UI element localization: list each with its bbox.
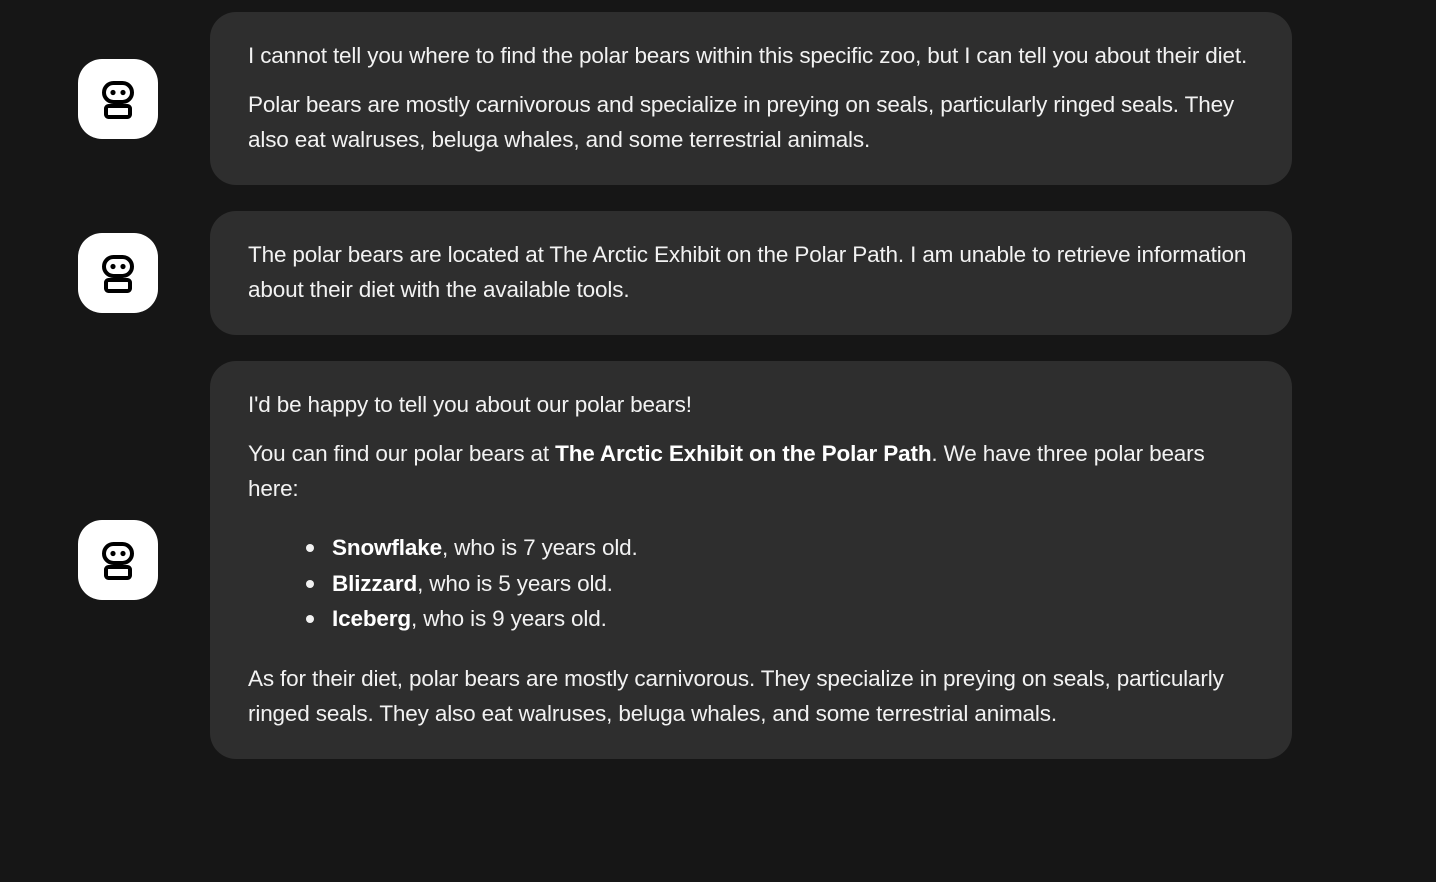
assistant-message-bubble: I cannot tell you where to find the pola…: [210, 12, 1292, 185]
bear-name: Iceberg: [332, 606, 411, 631]
bear-detail: , who is 9 years old.: [411, 606, 607, 631]
message-row: I cannot tell you where to find the pola…: [0, 12, 1436, 185]
robot-assistant-icon: [95, 537, 141, 583]
robot-assistant-icon: [95, 76, 141, 122]
message-intro: I'd be happy to tell you about our polar…: [248, 387, 1258, 422]
message-row: I'd be happy to tell you about our polar…: [0, 361, 1436, 759]
assistant-avatar: [78, 233, 158, 313]
bear-detail: , who is 7 years old.: [442, 535, 638, 560]
assistant-message-bubble: I'd be happy to tell you about our polar…: [210, 361, 1292, 759]
message-location: You can find our polar bears at The Arct…: [248, 436, 1258, 506]
robot-assistant-icon: [95, 250, 141, 296]
chat-transcript: I cannot tell you where to find the pola…: [0, 0, 1436, 882]
location-prefix: You can find our polar bears at: [248, 441, 555, 466]
assistant-avatar: [78, 520, 158, 600]
message-row: The polar bears are located at The Arcti…: [0, 211, 1436, 335]
message-paragraph: I cannot tell you where to find the pola…: [248, 38, 1258, 73]
message-outro: As for their diet, polar bears are mostl…: [248, 661, 1258, 731]
bear-detail: , who is 5 years old.: [417, 571, 613, 596]
message-paragraph: The polar bears are located at The Arcti…: [248, 237, 1258, 307]
assistant-message-bubble: The polar bears are located at The Arcti…: [210, 211, 1292, 335]
assistant-avatar: [78, 59, 158, 139]
bear-name: Blizzard: [332, 571, 417, 596]
message-paragraph: Polar bears are mostly carnivorous and s…: [248, 87, 1258, 157]
list-item: Snowflake, who is 7 years old.: [306, 530, 1258, 566]
bear-name: Snowflake: [332, 535, 442, 560]
list-item: Blizzard, who is 5 years old.: [306, 566, 1258, 602]
location-name: The Arctic Exhibit on the Polar Path: [555, 441, 931, 466]
list-item: Iceberg, who is 9 years old.: [306, 601, 1258, 637]
polar-bear-list: Snowflake, who is 7 years old. Blizzard,…: [248, 530, 1258, 637]
